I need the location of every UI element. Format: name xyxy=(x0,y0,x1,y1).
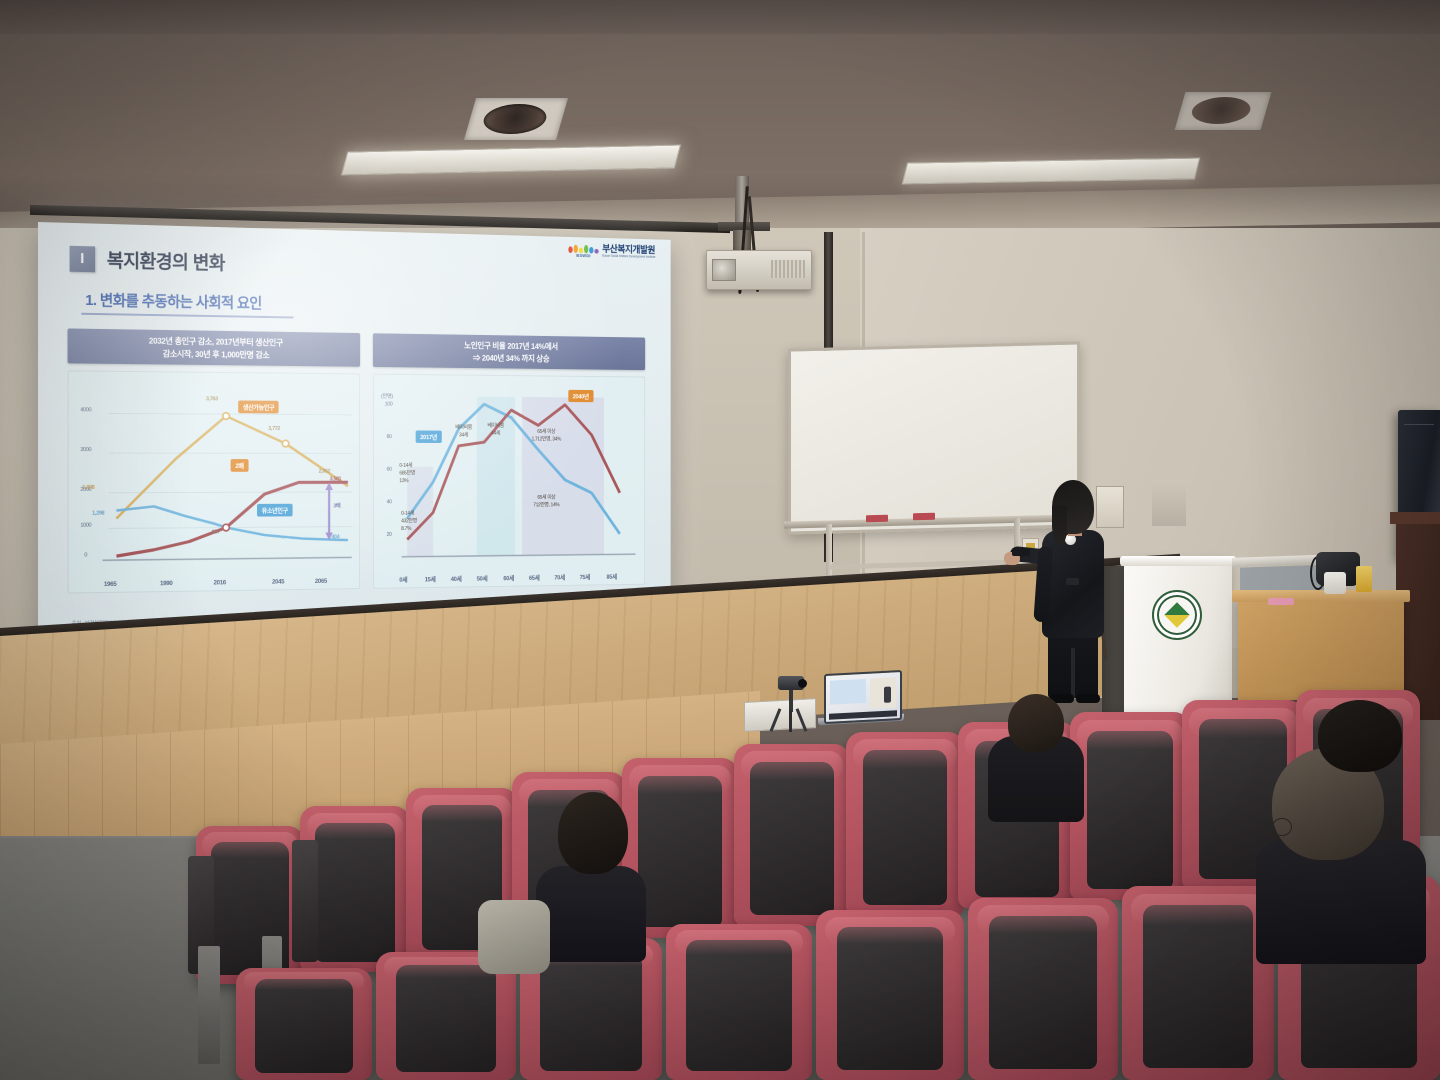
eld-anno-2040-title: 65세 이상 xyxy=(537,429,555,435)
eld-anno-2040-value: 1,712만명, 34% xyxy=(532,437,561,443)
podium-top-surface xyxy=(1120,556,1236,566)
seat-support xyxy=(198,946,220,1064)
logo-abbreviation: BSWDI xyxy=(576,253,590,258)
eld-anno-youth-2017-pct: 13% xyxy=(399,478,408,484)
tripod-leg-c xyxy=(789,710,792,732)
laptop-screen[interactable] xyxy=(824,670,902,724)
presentation-slide: BSWDI 부산복지개발원 Busan Social Welfare Devel… xyxy=(38,222,671,642)
logo-subtitle: Busan Social Welfare Development Institu… xyxy=(602,255,655,260)
panel-elderly-header-line2: ⇒ 2040년 34% 까지 상승 xyxy=(377,350,642,365)
lecture-hall-photo: BSWDI 부산복지개발원 Busan Social Welfare Devel… xyxy=(0,0,1440,1080)
eld-anno-babyboom-a: 베이비붐 34세 xyxy=(455,425,472,440)
slide-title: 복지환경의 변화 xyxy=(107,246,225,275)
whiteboard-eraser-secondary xyxy=(913,513,935,521)
audience-body xyxy=(536,866,646,962)
white-container xyxy=(1324,572,1346,594)
seat[interactable] xyxy=(968,898,1118,1080)
audience-head xyxy=(1008,694,1064,752)
laptop-taskbar xyxy=(829,710,897,720)
panel-population: 2032년 총인구 감소, 2017년부터 생산인구 감소시작, 30년 후 1… xyxy=(68,328,360,593)
eld-ytick-40: 40 xyxy=(387,500,392,506)
eld-ytick-60: 60 xyxy=(387,467,392,473)
eld-xtick-40: 40세 xyxy=(451,574,462,583)
pop-label-2062: 2,062 xyxy=(319,469,331,475)
presenter-leg-gap xyxy=(1071,648,1075,698)
population-line-chart xyxy=(69,372,360,593)
laptop-ui-video xyxy=(870,677,896,708)
seat[interactable] xyxy=(846,732,964,916)
presenter-shoe-right xyxy=(1076,694,1100,703)
eld-xtick-60: 60세 xyxy=(503,574,514,583)
seat-armrest xyxy=(292,840,318,962)
eld-anno-2017-title: 65세 이상 xyxy=(537,495,555,501)
presenter-remote[interactable] xyxy=(1012,548,1030,556)
eld-anno-babyboom-b-title: 베이비붐 xyxy=(487,423,504,429)
pop-xtick-2016: 2016 xyxy=(214,580,226,587)
eld-callout-2040: 2040년 xyxy=(568,390,593,402)
pop-ytick-0: 0 xyxy=(84,553,87,559)
eld-anno-youth-2017-value: 685만명 xyxy=(399,471,415,477)
side-table-top xyxy=(1232,590,1410,602)
eld-xtick-50: 50세 xyxy=(477,574,488,583)
eld-anno-babyboom-a-value: 34세 xyxy=(459,433,468,439)
audience-coat xyxy=(478,900,550,974)
pop-xtick-2045: 2045 xyxy=(272,579,284,586)
eld-anno-youth-2017-title: 0-14세 xyxy=(399,463,412,469)
tripod-column xyxy=(789,690,793,712)
seat[interactable] xyxy=(666,924,812,1080)
laptop-ui-person xyxy=(884,687,891,703)
projector-lens-icon xyxy=(712,259,736,281)
panel-elderly: 노인인구 비율 2017년 14%에서 ⇒ 2040년 34% 까지 상승 xyxy=(373,333,645,589)
slide-section-badge: I xyxy=(70,245,95,271)
eld-anno-babyboom-b: 베이비붐 44세 xyxy=(487,423,504,438)
institute-logo: BSWDI 부산복지개발원 Busan Social Welfare Devel… xyxy=(568,244,655,259)
eld-xtick-85: 85세 xyxy=(606,572,616,581)
panel-population-header: 2032년 총인구 감소, 2017년부터 생산인구 감소시작, 30년 후 1… xyxy=(68,328,360,367)
pop-callout-working-age: 생산가능인구 xyxy=(238,401,279,414)
pop-xtick-1965: 1965 xyxy=(104,581,117,588)
seat[interactable] xyxy=(1070,712,1190,900)
panel-population-chart: 4000 3000 2000 1000 0 1965 1990 2016 204… xyxy=(68,371,360,594)
pop-ytick-4000: 4000 xyxy=(80,407,91,413)
pop-label-1098: 1,098 xyxy=(82,485,94,491)
pink-phone xyxy=(1268,598,1294,605)
ceiling-vent-icon xyxy=(464,98,568,140)
eld-unit-label: (만명) xyxy=(381,392,393,400)
eld-ytick-80: 80 xyxy=(387,434,392,440)
seat[interactable] xyxy=(734,744,850,926)
ceiling-vent-secondary-icon xyxy=(1175,92,1272,130)
pop-xtick-2065: 2065 xyxy=(315,578,327,585)
eld-anno-babyboom-a-title: 베이비붐 xyxy=(455,425,472,431)
yellow-drink xyxy=(1356,566,1372,592)
wall-control-box[interactable] xyxy=(1096,486,1124,528)
pop-label-1298: 1,298 xyxy=(92,511,104,517)
audience-head xyxy=(1318,700,1402,772)
audience-head xyxy=(558,792,628,874)
pop-label-3772: 3,772 xyxy=(268,426,280,432)
eld-anno-2017-value: 712만명, 14% xyxy=(533,502,559,508)
ceiling-edge-strip xyxy=(0,0,1440,34)
presenter-watch xyxy=(1066,578,1079,585)
pop-ytick-3000: 3000 xyxy=(80,447,91,453)
pop-gap-label: 3배 xyxy=(333,502,340,510)
pop-callout-twofold: 2배 xyxy=(231,459,249,472)
eld-callout-2017: 2017년 xyxy=(416,431,442,443)
pop-label-657: 657 xyxy=(212,530,220,536)
eld-anno-youth-2017: 0-14세 685만명 13% xyxy=(399,463,415,485)
panel-population-header-line2: 감소시작, 30년 후 1,000만명 감소 xyxy=(72,346,357,362)
pop-label-404: 404 xyxy=(332,535,340,541)
eld-xtick-70: 70세 xyxy=(554,573,565,582)
eld-anno-youth-2040: 0-14세 432만명 8.7% xyxy=(401,511,417,534)
eld-anno-2017-elderly: 65세 이상 712만명, 14% xyxy=(533,495,559,510)
side-table xyxy=(1238,596,1404,700)
whiteboard xyxy=(788,341,1080,534)
eld-xtick-75: 75세 xyxy=(580,573,590,582)
eld-anno-2040-elderly: 65세 이상 1,712만명, 34% xyxy=(532,429,561,444)
laptop-ui-document xyxy=(830,679,866,705)
podium xyxy=(1124,560,1232,720)
projector-vent-grille xyxy=(771,260,805,278)
eld-anno-youth-2040-value: 432만명 xyxy=(401,518,417,524)
wooden-cabinet-top xyxy=(1390,512,1440,524)
seat[interactable] xyxy=(236,968,372,1080)
pop-label-3763: 3,763 xyxy=(206,397,218,403)
pop-ytick-1000: 1000 xyxy=(80,523,91,529)
projection-screen: BSWDI 부산복지개발원 Busan Social Welfare Devel… xyxy=(38,222,671,642)
subtitle-underline xyxy=(81,313,293,319)
eld-anno-youth-2040-pct: 8.7% xyxy=(401,526,411,532)
seat[interactable] xyxy=(816,910,964,1080)
camera-lens-icon xyxy=(798,679,807,688)
pop-label-3581: 3,581 xyxy=(330,477,342,483)
pop-callout-youth: 유소년인구 xyxy=(257,504,292,517)
eld-xtick-15: 15세 xyxy=(425,575,436,584)
seat[interactable] xyxy=(1122,886,1274,1080)
wall-panel xyxy=(1152,480,1186,526)
eld-xtick-0: 0세 xyxy=(399,575,407,584)
eyeglasses-icon xyxy=(1272,818,1292,836)
eld-ytick-100: 100 xyxy=(385,402,393,408)
panel-elderly-chart: (만명) 100 80 60 40 20 0세 15세 40세 50세 60세 … xyxy=(373,374,645,589)
slide-title-row: I 복지환경의 변화 xyxy=(70,245,225,275)
whiteboard-eraser xyxy=(866,515,888,523)
podium-side-unit xyxy=(1102,566,1126,718)
eld-anno-babyboom-b-value: 44세 xyxy=(491,431,500,437)
university-emblem-icon xyxy=(1152,590,1202,640)
chart-panels: 2032년 총인구 감소, 2017년부터 생산인구 감소시작, 30년 후 1… xyxy=(68,328,646,593)
eld-xtick-65: 65세 xyxy=(529,573,540,582)
slide-subtitle: 1. 변화를 추동하는 사회적 요인 xyxy=(85,289,261,313)
panel-elderly-header: 노인인구 비율 2017년 14%에서 ⇒ 2040년 34% 까지 상승 xyxy=(373,333,645,370)
eld-ytick-20: 20 xyxy=(387,532,392,538)
presenter-hair-side xyxy=(1052,506,1067,544)
ceiling-projector xyxy=(706,250,812,290)
pop-xtick-1990: 1990 xyxy=(160,580,173,587)
eld-anno-youth-2040-title: 0-14세 xyxy=(401,511,414,517)
